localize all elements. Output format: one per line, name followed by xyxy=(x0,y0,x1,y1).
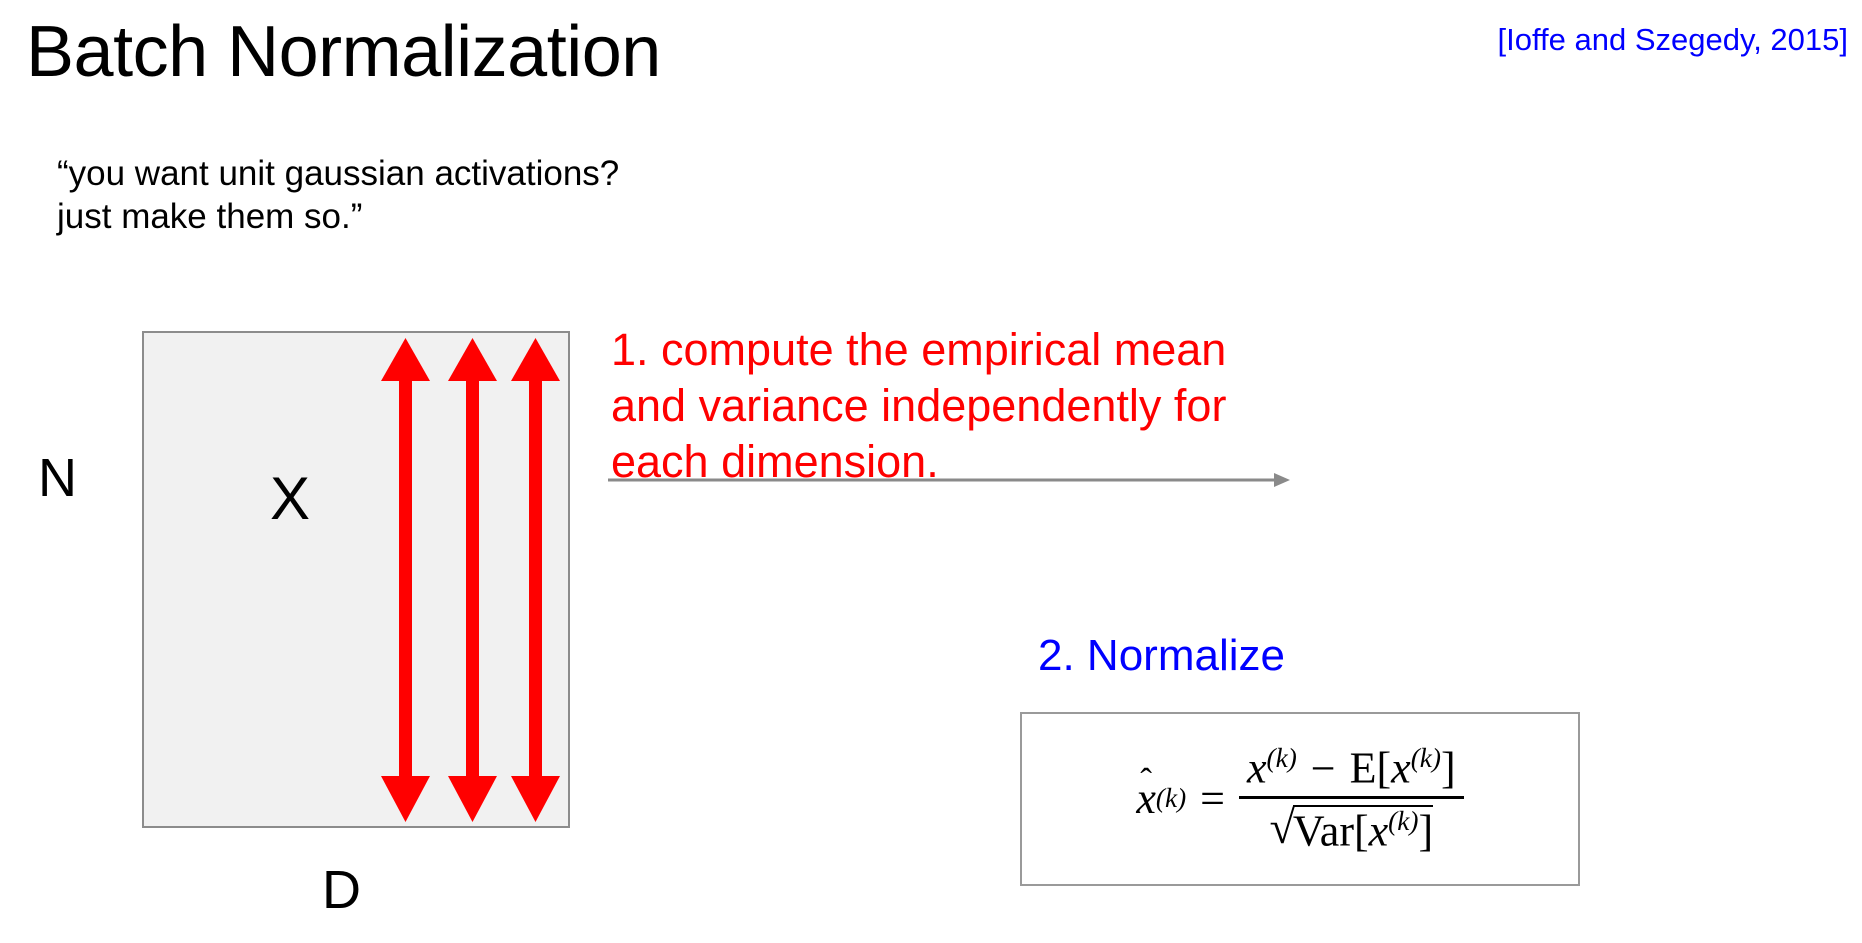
denominator-bracket-close: ] xyxy=(1418,806,1433,855)
formula-denominator: √Var[x(k)] xyxy=(1262,799,1442,854)
quote-block: “you want unit gaussian activations? jus… xyxy=(57,152,619,238)
citation-reference: [Ioffe and Szegedy, 2015] xyxy=(1498,22,1848,58)
denominator-bracket-open: [ xyxy=(1354,806,1369,855)
formula-lhs-var: x xyxy=(1136,774,1156,823)
numerator-minus: − xyxy=(1311,744,1336,793)
transition-arrow-icon xyxy=(606,468,1306,492)
sqrt-icon: √ xyxy=(1270,805,1295,851)
step-2-label: 2. Normalize xyxy=(1038,630,1285,682)
denominator-var-symbol: x xyxy=(1369,806,1389,855)
numerator-term2-superscript: (k) xyxy=(1411,743,1441,773)
normalize-formula: ̂ x (k) = x(k)−E[x(k)] √Var[x(k)] xyxy=(1136,745,1463,853)
page-title: Batch Normalization xyxy=(26,12,661,92)
numerator-term1-superscript: (k) xyxy=(1267,743,1297,773)
formula-radicand: Var[x(k)] xyxy=(1293,805,1433,854)
numerator-bracket-close: ] xyxy=(1441,744,1456,793)
slide-canvas: Batch Normalization [Ioffe and Szegedy, … xyxy=(0,0,1862,943)
matrix-label: X xyxy=(270,466,310,532)
formula-fraction: x(k)−E[x(k)] √Var[x(k)] xyxy=(1239,745,1464,853)
quote-line-2: just make them so.” xyxy=(57,195,619,238)
matrix-box xyxy=(142,331,570,828)
matrix-cols-label: D xyxy=(322,860,361,920)
formula-lhs-superscript: (k) xyxy=(1156,785,1186,812)
numerator-term2-var: x xyxy=(1391,744,1411,793)
quote-line-1: “you want unit gaussian activations? xyxy=(57,152,619,195)
denominator-variance: Var xyxy=(1293,806,1354,855)
formula-lhs: ̂ x xyxy=(1136,777,1156,821)
normalize-formula-box: ̂ x (k) = x(k)−E[x(k)] √Var[x(k)] xyxy=(1020,712,1580,886)
numerator-term1-var: x xyxy=(1247,744,1267,793)
formula-numerator: x(k)−E[x(k)] xyxy=(1239,745,1464,796)
matrix-rows-label: N xyxy=(38,448,77,508)
numerator-bracket-open: [ xyxy=(1377,744,1392,793)
denominator-var-superscript: (k) xyxy=(1388,806,1418,836)
numerator-expectation: E xyxy=(1350,744,1377,793)
formula-equals: = xyxy=(1200,777,1225,821)
step-1-text: 1. compute the empirical mean and varian… xyxy=(611,322,1311,490)
